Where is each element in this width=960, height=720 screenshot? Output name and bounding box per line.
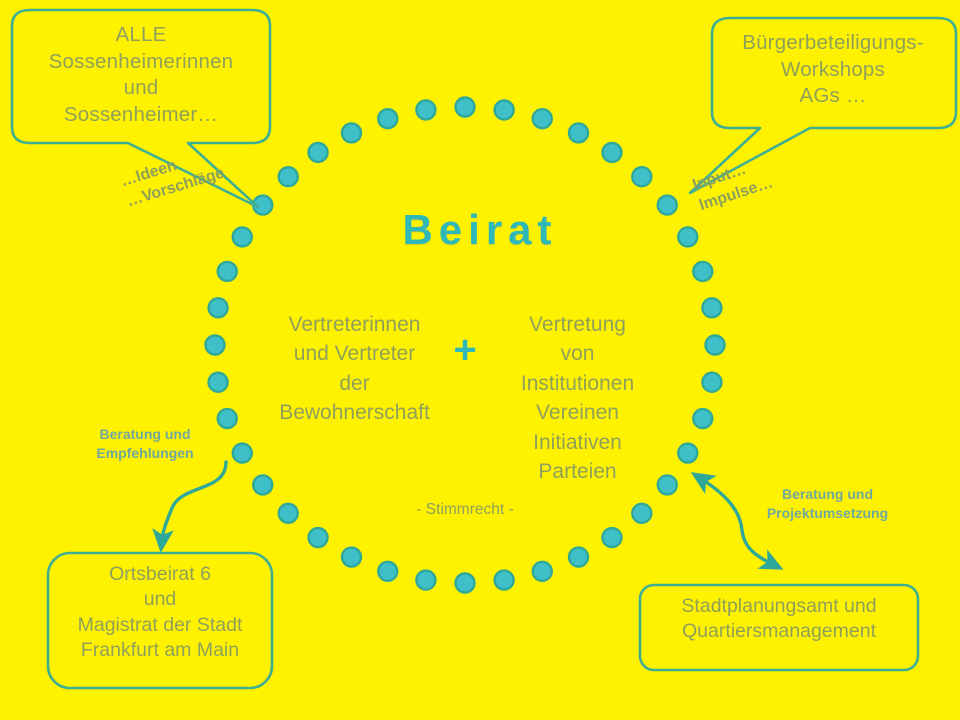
center-column-left: Vertreterinnen und Vertreter der Bewohne… xyxy=(272,310,437,428)
circle-dot xyxy=(279,504,298,523)
diagram-canvas: ALLE Sossenheimerinnen und Sossenheimer…… xyxy=(0,0,960,720)
circle-dot xyxy=(693,409,712,428)
circle-dot xyxy=(533,109,552,128)
circle-dot xyxy=(456,574,475,593)
circle-dot xyxy=(495,100,514,119)
circle-dot xyxy=(632,167,651,186)
box-bottom-left-text: Ortsbeirat 6 und Magistrat der Stadt Fra… xyxy=(50,562,270,663)
circle-dot xyxy=(602,528,621,547)
circle-dot xyxy=(495,571,514,590)
circle-dot xyxy=(253,475,272,494)
plus-icon: + xyxy=(440,325,490,375)
circle-dot xyxy=(378,562,397,581)
circle-dot xyxy=(456,98,475,117)
circle-dot xyxy=(206,336,225,355)
circle-dot xyxy=(342,548,361,567)
circle-dot xyxy=(342,123,361,142)
circle-dot xyxy=(632,504,651,523)
stimmrecht-note: - Stimmrecht - xyxy=(345,500,585,520)
bubble-top-right-text: Bürgerbeteiligungs- Workshops AGs … xyxy=(712,30,954,110)
circle-dot xyxy=(279,167,298,186)
circle-dot xyxy=(702,298,721,317)
circle-dot xyxy=(209,373,228,392)
arrow-beratung-empfehlungen xyxy=(162,462,226,540)
circle-dot xyxy=(658,475,677,494)
arrow-label-right: Beratung und Projektumsetzung xyxy=(740,485,915,523)
box-bottom-right-text: Stadtplanungsamt und Quartiersmanagement xyxy=(642,594,916,645)
circle-dot xyxy=(602,143,621,162)
arrow-label-left: Beratung und Empfehlungen xyxy=(70,425,220,463)
circle-dot xyxy=(378,109,397,128)
circle-dot xyxy=(218,262,237,281)
bubble-top-left-text: ALLE Sossenheimerinnen und Sossenheimer… xyxy=(14,22,268,129)
circle-dot xyxy=(233,444,252,463)
circle-dot xyxy=(309,528,328,547)
circle-dot xyxy=(678,444,697,463)
circle-dot xyxy=(218,409,237,428)
circle-dot xyxy=(693,262,712,281)
circle-dot xyxy=(569,123,588,142)
circle-dot xyxy=(416,100,435,119)
circle-dot xyxy=(209,298,228,317)
circle-dot xyxy=(533,562,552,581)
page-title: Beirat xyxy=(0,203,960,258)
center-column-right: Vertretung von Institutionen Vereinen In… xyxy=(495,310,660,486)
circle-dot xyxy=(702,373,721,392)
circle-dot xyxy=(416,571,435,590)
circle-dot xyxy=(706,336,725,355)
circle-dot xyxy=(569,548,588,567)
circle-dot xyxy=(309,143,328,162)
